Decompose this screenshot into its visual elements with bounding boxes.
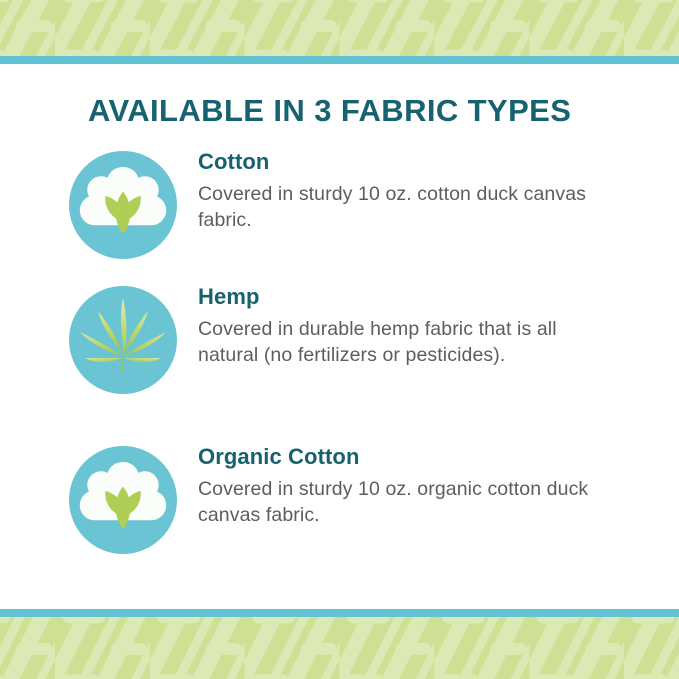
bottom-banner (0, 609, 679, 679)
item-description: Covered in sturdy 10 oz. cotton duck can… (198, 182, 598, 234)
hemp-text-slot: Hemp Covered in durable hemp fabric that… (198, 285, 679, 369)
hemp-icon-slot (68, 285, 178, 395)
item-title: Hemp (198, 285, 639, 309)
weave-pattern-top (0, 0, 679, 56)
cotton-boll-icon (68, 150, 178, 260)
organic-cotton-text-slot: Organic Cotton Covered in sturdy 10 oz. … (198, 445, 679, 529)
bottom-banner-teal-rule (0, 609, 679, 617)
top-banner-green-field (0, 0, 679, 56)
top-banner-teal-rule (0, 56, 679, 64)
item-description: Covered in sturdy 10 oz. organic cotton … (198, 477, 598, 529)
top-banner (0, 0, 679, 64)
hemp-leaf-icon (68, 285, 178, 395)
organic-cotton-icon-slot (68, 445, 178, 555)
cotton-text-slot: Cotton Covered in sturdy 10 oz. cotton d… (198, 150, 679, 234)
fabric-type-list: Cotton Covered in sturdy 10 oz. cotton d… (0, 150, 679, 585)
item-description: Covered in durable hemp fabric that is a… (198, 317, 598, 369)
page-title: AVAILABLE IN 3 FABRIC TYPES (88, 93, 571, 129)
cotton-boll-icon (68, 445, 178, 555)
list-item: Cotton Covered in sturdy 10 oz. cotton d… (0, 150, 679, 285)
item-title: Cotton (198, 150, 639, 174)
weave-pattern-bottom (0, 617, 679, 679)
main-content: AVAILABLE IN 3 FABRIC TYPES (0, 64, 679, 609)
item-title: Organic Cotton (198, 445, 639, 469)
bottom-banner-green-field (0, 617, 679, 679)
list-item: Hemp Covered in durable hemp fabric that… (0, 285, 679, 445)
cotton-icon-slot (68, 150, 178, 260)
list-item: Organic Cotton Covered in sturdy 10 oz. … (0, 445, 679, 585)
fabric-types-infographic: AVAILABLE IN 3 FABRIC TYPES (0, 0, 679, 679)
